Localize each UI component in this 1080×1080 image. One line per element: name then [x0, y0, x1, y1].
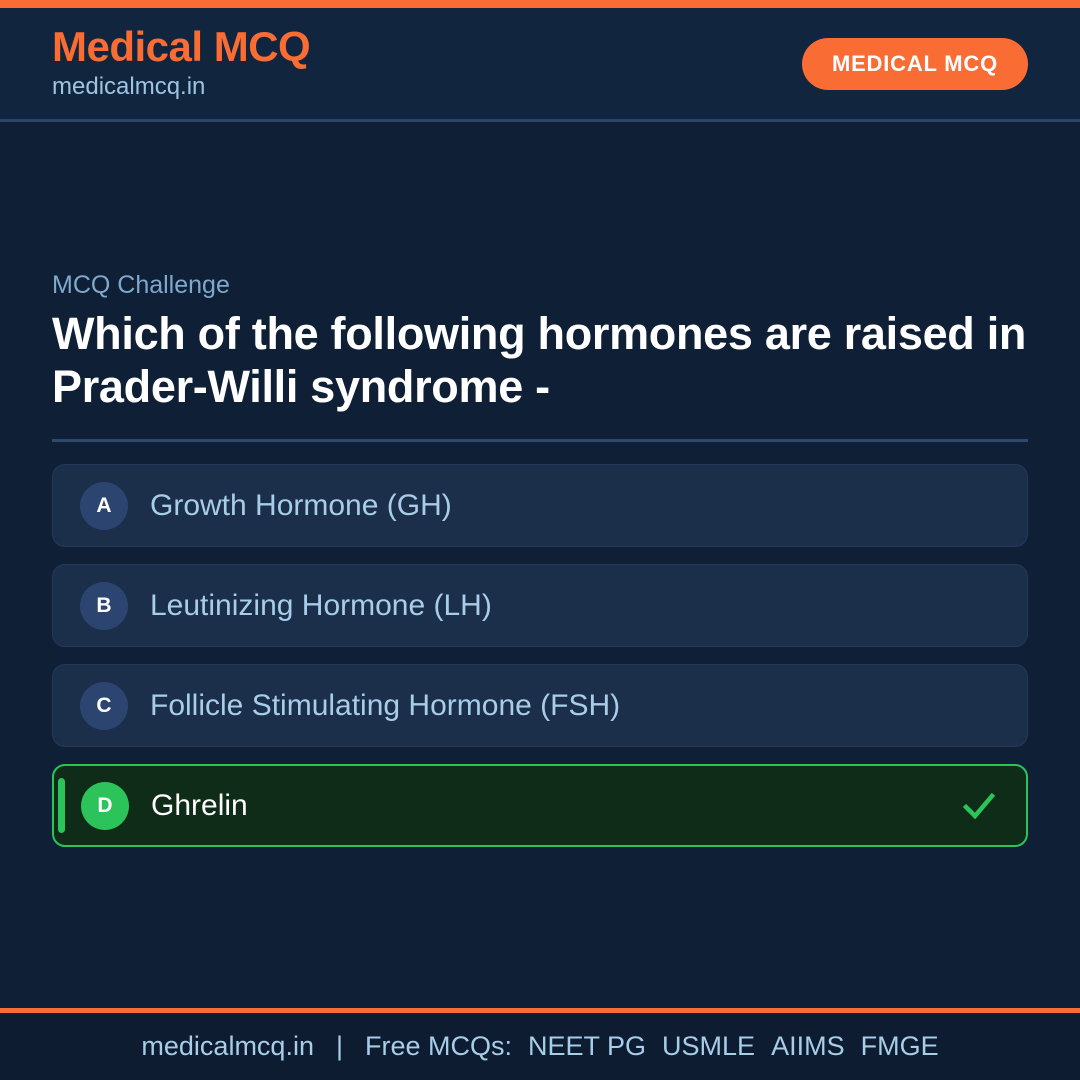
brand-title: Medical MCQ [52, 25, 310, 69]
top-accent-bar [0, 0, 1080, 8]
option-letter-c: C [80, 682, 128, 730]
footer-exam-neet-pg: NEET PG [512, 1031, 646, 1062]
footer-exam-fmge: FMGE [845, 1031, 939, 1062]
options-list: A Growth Hormone (GH) B Leutinizing Horm… [52, 464, 1028, 847]
option-letter-b: B [80, 582, 128, 630]
header: Medical MCQ medicalmcq.in MEDICAL MCQ [0, 8, 1080, 122]
mcq-card: Medical MCQ medicalmcq.in MEDICAL MCQ MC… [0, 0, 1080, 1080]
option-row-d[interactable]: D Ghrelin [52, 764, 1028, 847]
footer-label: Free MCQs: [365, 1031, 512, 1062]
question-kicker: MCQ Challenge [52, 270, 1028, 300]
brand-badge: MEDICAL MCQ [802, 38, 1028, 90]
footer-row: medicalmcq.in | Free MCQs: NEET PG USMLE… [141, 1031, 938, 1062]
option-label-b: Leutinizing Hormone (LH) [150, 588, 492, 624]
option-row-b[interactable]: B Leutinizing Hormone (LH) [52, 564, 1028, 647]
footer-site: medicalmcq.in [141, 1031, 314, 1062]
checkmark-icon [962, 789, 996, 823]
correct-accent-bar [58, 778, 65, 833]
footer-exam-aiims: AIIMS [755, 1031, 845, 1062]
option-label-c: Follicle Stimulating Hormone (FSH) [150, 688, 620, 724]
option-letter-d: D [81, 782, 129, 830]
option-row-c[interactable]: C Follicle Stimulating Hormone (FSH) [52, 664, 1028, 747]
main-content: MCQ Challenge Which of the following hor… [0, 122, 1080, 1008]
option-letter-a: A [80, 482, 128, 530]
question-text: Which of the following hormones are rais… [52, 308, 1027, 413]
question-divider [52, 439, 1028, 442]
footer-separator: | [314, 1031, 365, 1062]
footer: medicalmcq.in | Free MCQs: NEET PG USMLE… [0, 1008, 1080, 1080]
footer-exam-usmle: USMLE [646, 1031, 755, 1062]
question-block: MCQ Challenge Which of the following hor… [52, 270, 1028, 413]
option-label-a: Growth Hormone (GH) [150, 488, 452, 524]
option-row-a[interactable]: A Growth Hormone (GH) [52, 464, 1028, 547]
brand-block: Medical MCQ medicalmcq.in [52, 25, 310, 101]
brand-subtitle: medicalmcq.in [52, 72, 310, 102]
option-label-d: Ghrelin [151, 788, 248, 824]
